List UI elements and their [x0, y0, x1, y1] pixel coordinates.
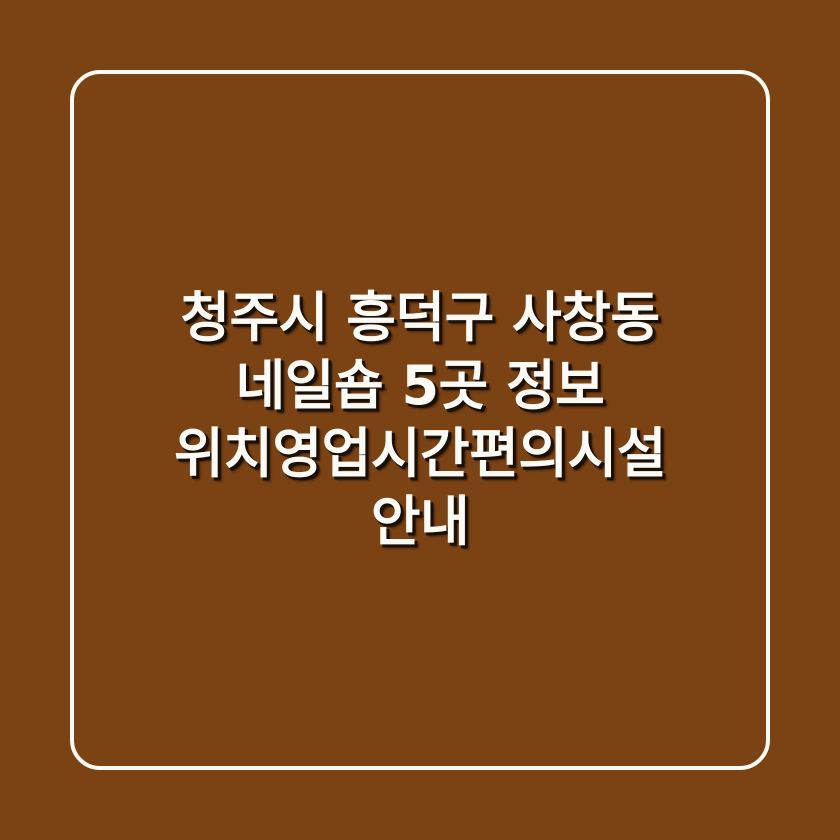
title-line-1: 청주시 흥덕구 사창동 — [90, 284, 750, 352]
title-line-2: 네일숍 5곳 정보 — [90, 352, 750, 420]
title-line-3: 위치영업시간편의시설 — [90, 420, 750, 488]
page-title: 청주시 흥덕구 사창동 네일숍 5곳 정보 위치영업시간편의시설 안내 — [90, 284, 750, 556]
poster-canvas: 청주시 흥덕구 사창동 네일숍 5곳 정보 위치영업시간편의시설 안내 — [0, 0, 840, 840]
title-line-4: 안내 — [90, 488, 750, 556]
